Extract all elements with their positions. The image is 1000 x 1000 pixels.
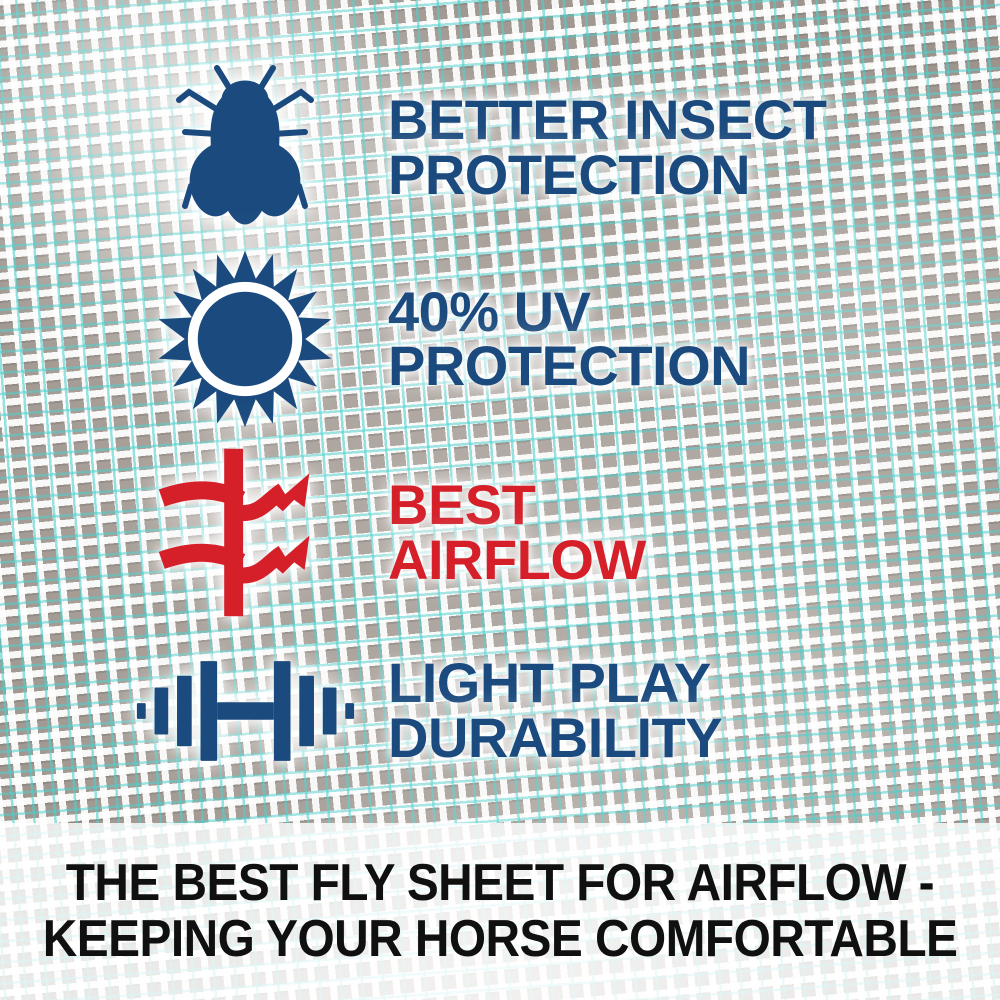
feature-label-insect-protection: BETTER INSECT PROTECTION xyxy=(388,93,920,202)
feature-list: BETTER INSECT PROTECTION 40% UV PROTECTI… xyxy=(0,0,1000,820)
dumbbell-icon xyxy=(120,651,370,771)
feature-row-uv-protection: 40% UV PROTECTION xyxy=(120,243,920,435)
feature-label-cell: BEST AIRFLOW xyxy=(370,478,920,587)
feature-label-uv-protection: 40% UV PROTECTION xyxy=(388,285,920,394)
feature-row-insect-protection: BETTER INSECT PROTECTION xyxy=(120,55,920,240)
sun-icon xyxy=(120,249,370,429)
tagline-banner: THE BEST FLY SHEET FOR AIRFLOW - KEEPING… xyxy=(0,823,1000,1000)
fly-icon xyxy=(120,58,370,238)
feature-row-airflow: BEST AIRFLOW xyxy=(120,440,920,625)
feature-label-cell: 40% UV PROTECTION xyxy=(370,285,920,394)
feature-label-cell: BETTER INSECT PROTECTION xyxy=(370,93,920,202)
feature-row-durability: LIGHT PLAY DURABILITY xyxy=(120,628,920,793)
feature-label-durability: LIGHT PLAY DURABILITY xyxy=(388,656,920,765)
product-feature-graphic: BETTER INSECT PROTECTION 40% UV PROTECTI… xyxy=(0,0,1000,1000)
tagline-line-1: THE BEST FLY SHEET FOR AIRFLOW - xyxy=(66,856,934,911)
tagline-line-2: KEEPING YOUR HORSE COMFORTABLE xyxy=(43,912,958,967)
feature-label-cell: LIGHT PLAY DURABILITY xyxy=(370,656,920,765)
airflow-icon xyxy=(120,445,370,620)
feature-label-airflow: BEST AIRFLOW xyxy=(388,478,920,587)
